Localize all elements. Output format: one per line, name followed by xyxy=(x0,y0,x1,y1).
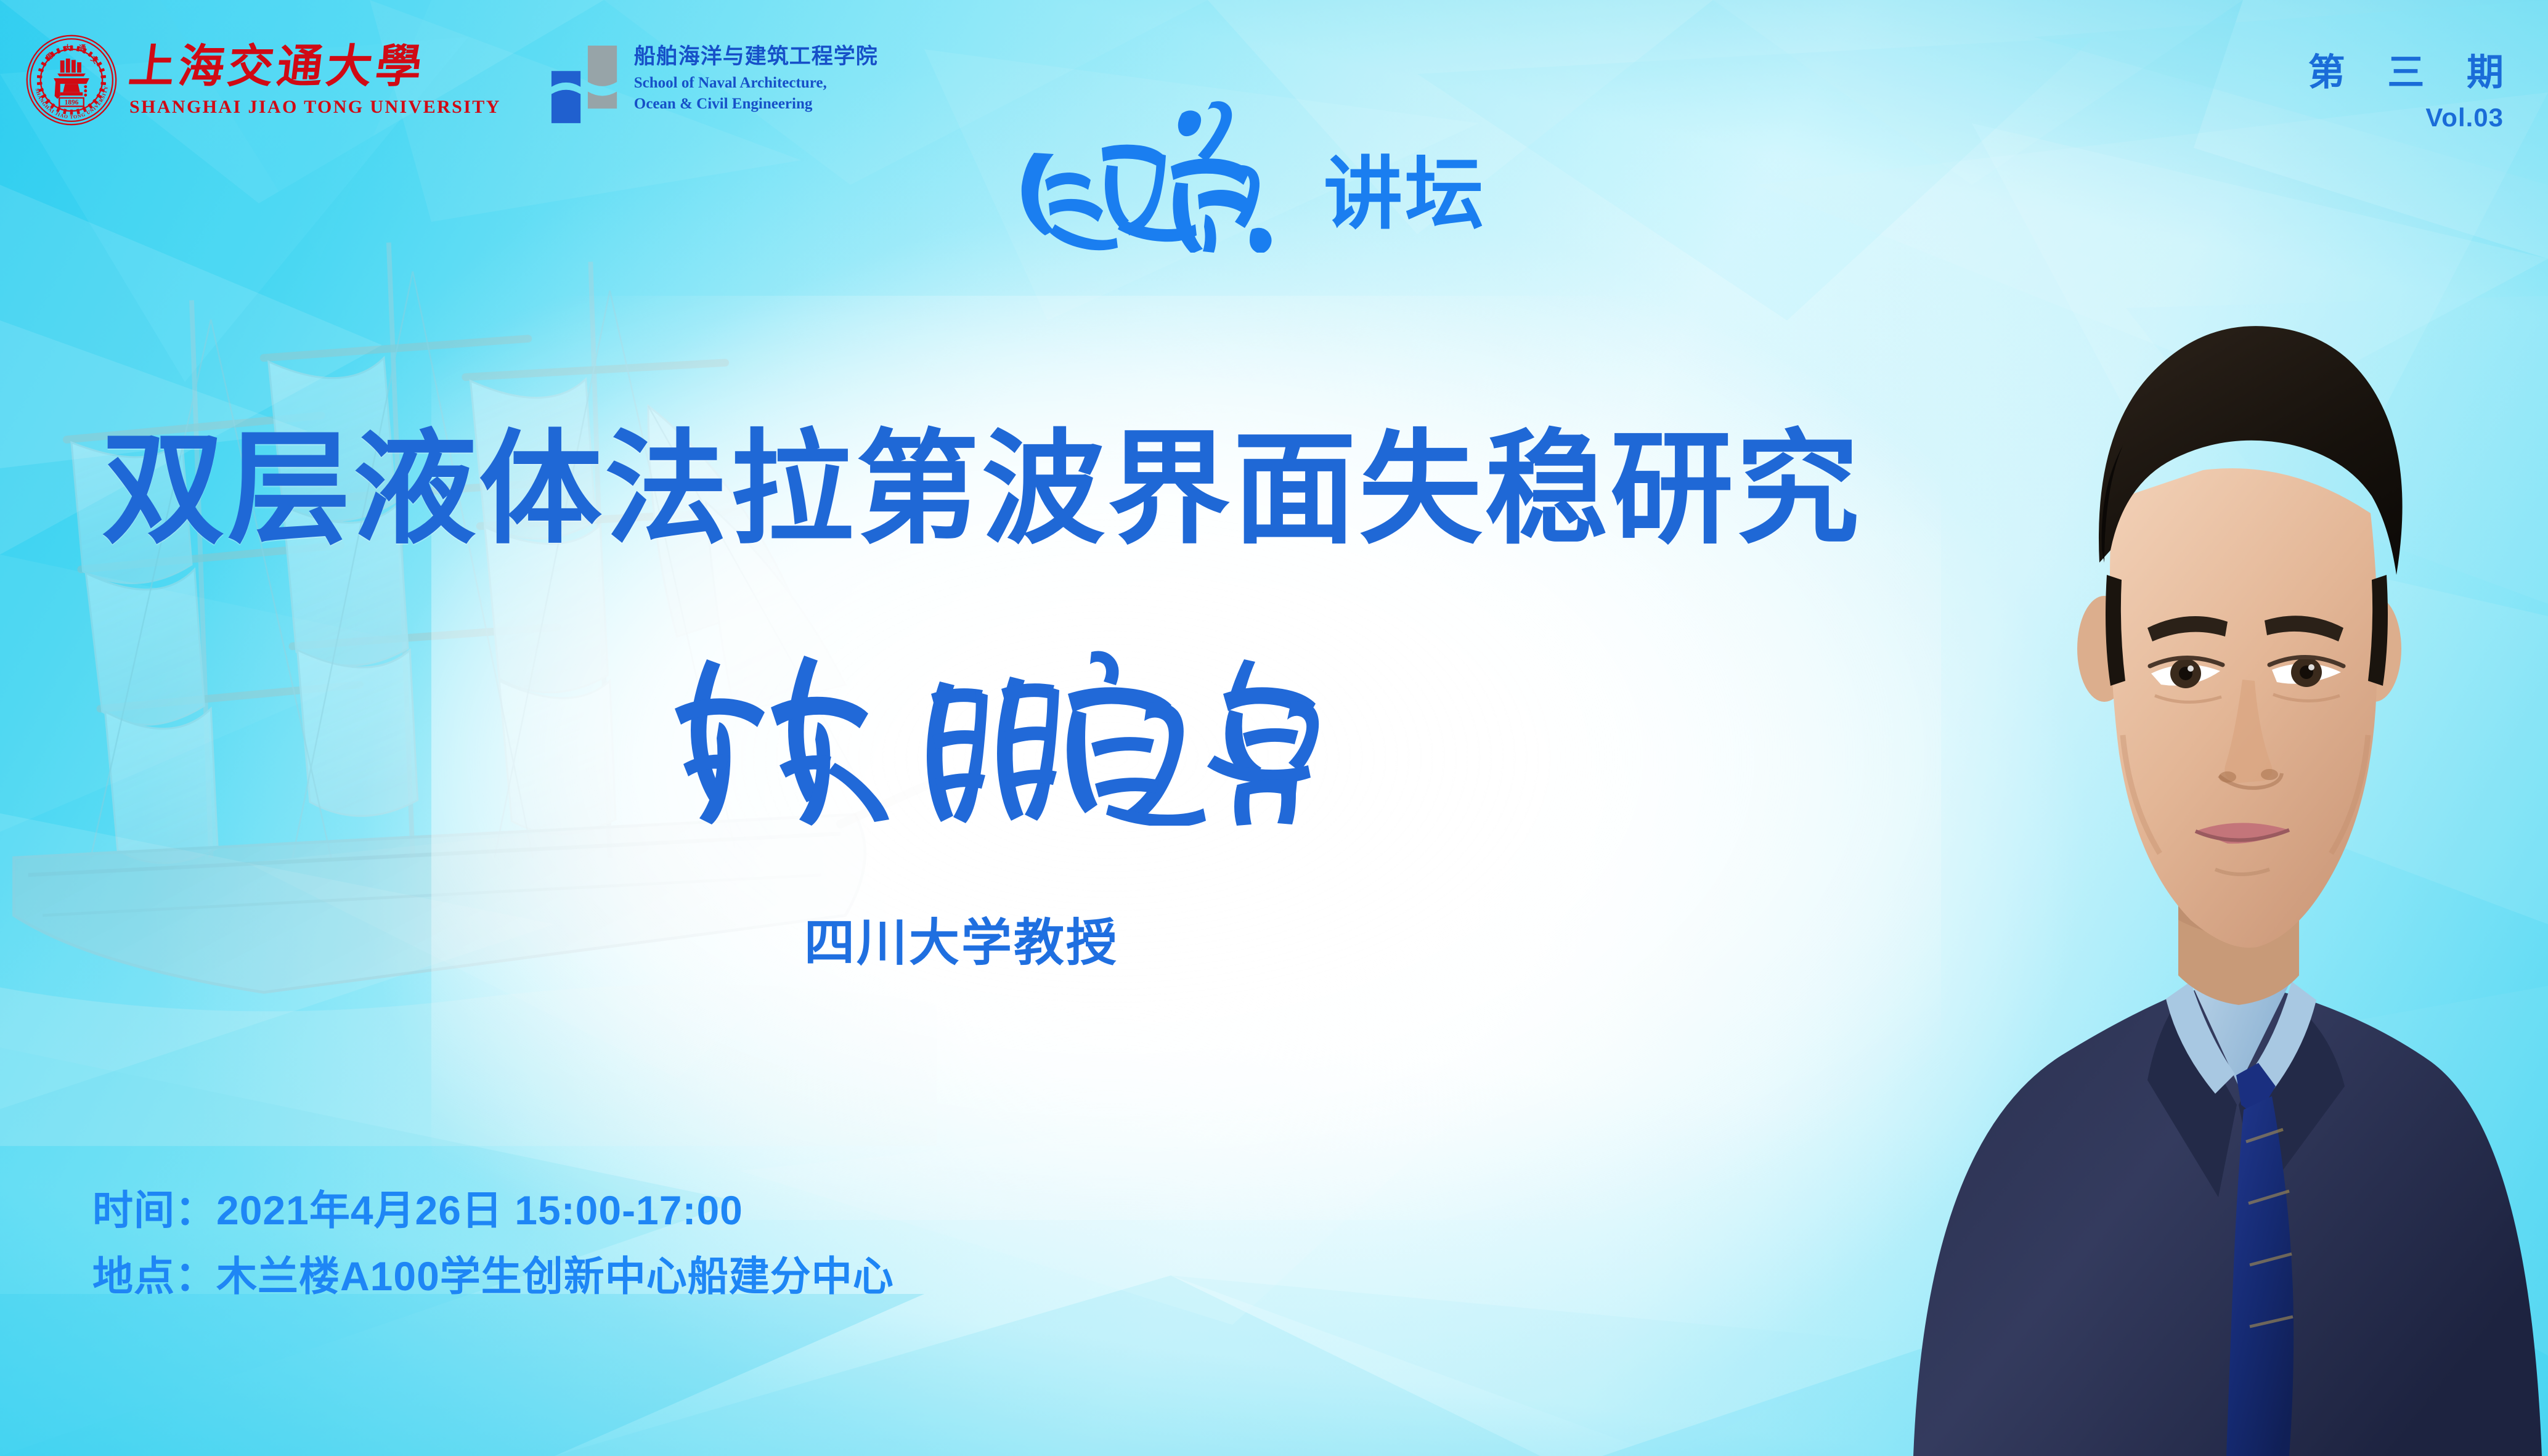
speaker-affiliation: 四川大学教授 xyxy=(804,918,1118,969)
event-details: 时间：2021年4月26日 15:00-17:00 地点：木兰楼A100学生创新… xyxy=(92,1189,894,1298)
lecture-poster: 1896 思 大 通 交 SHANGHAI JIAO TONG UNIVERSI… xyxy=(0,0,2548,1456)
svg-text:通: 通 xyxy=(79,43,86,52)
school-wordmark: 船舶海洋与建筑工程学院 School of Naval Architecture… xyxy=(634,46,878,115)
sjtu-name-en: SHANGHAI JIAO TONG UNIVERSITY xyxy=(129,98,501,116)
naval-architecture-mark-icon xyxy=(549,34,622,126)
sjtu-wordmark: 上海交通大學 SHANGHAI JIAO TONG UNIVERSITY xyxy=(129,44,501,116)
volume-badge: 第 三 期 Vol.03 xyxy=(2308,54,2504,131)
speaker-name-calligraphy-icon xyxy=(650,635,1328,826)
svg-text:大: 大 xyxy=(64,43,71,52)
volume-label-en: Vol.03 xyxy=(2308,105,2504,131)
svg-text:1896: 1896 xyxy=(65,99,79,107)
forum-name-rest: 讲坛 xyxy=(1324,155,1486,234)
school-logo: 船舶海洋与建筑工程学院 School of Naval Architecture… xyxy=(549,34,878,126)
event-place: 地点：木兰楼A100学生创新中心船建分中心 xyxy=(92,1255,894,1298)
sjtu-name-cn: 上海交通大學 xyxy=(126,44,503,89)
logo-group: 1896 思 大 通 交 SHANGHAI JIAO TONG UNIVERSI… xyxy=(0,33,878,127)
school-name-en-line1: School of Naval Architecture, xyxy=(634,73,878,94)
school-name-en-line2: Ocean & Civil Engineering xyxy=(634,94,878,115)
forum-brand: 讲坛 xyxy=(986,74,1486,248)
sjtu-seal-icon: 1896 思 大 通 交 SHANGHAI JIAO TONG UNIVERSI… xyxy=(25,33,118,127)
page-title: 双层液体法拉第波界面失稳研究 xyxy=(102,425,1956,555)
event-time: 时间：2021年4月26日 15:00-17:00 xyxy=(92,1189,894,1232)
qifan-calligraphy-icon xyxy=(986,74,1319,253)
svg-text:思: 思 xyxy=(44,51,55,62)
school-name-cn: 船舶海洋与建筑工程学院 xyxy=(634,46,878,68)
volume-label-cn: 第 三 期 xyxy=(2308,54,2520,91)
speaker-portrait-photo xyxy=(1858,181,2548,1456)
